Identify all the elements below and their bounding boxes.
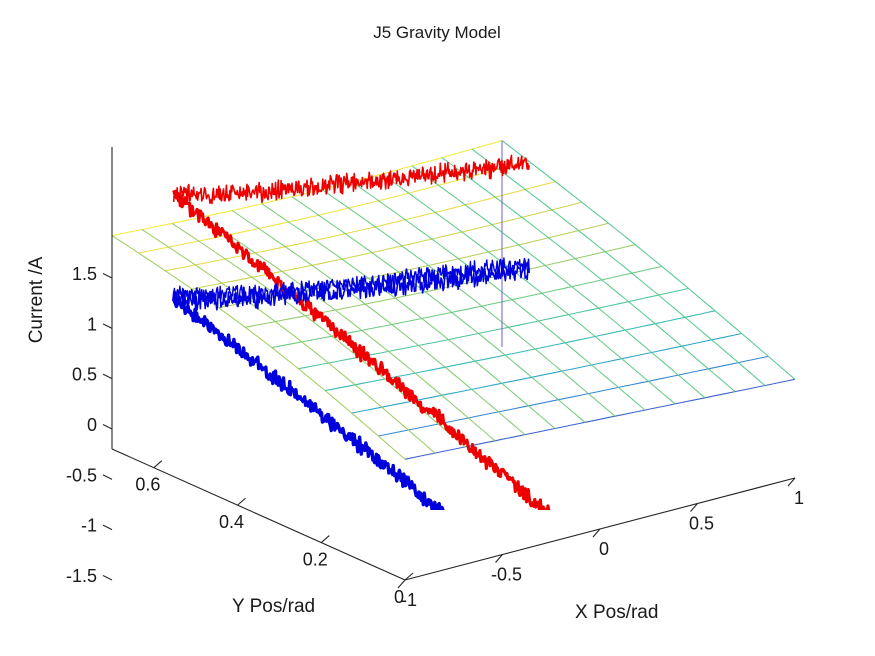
mesh-line-x — [382, 174, 675, 404]
trace-blue-descent — [174, 292, 546, 600]
z-tick-label: -0.5 — [66, 465, 97, 485]
z-tick-mark — [103, 274, 112, 279]
y-tick-label: 0.2 — [303, 550, 328, 570]
z-tick-label: 0 — [87, 415, 97, 435]
x-tick-label: 0 — [599, 539, 609, 559]
z-axis-label: Current /A — [26, 256, 47, 343]
z-tick-mark — [103, 475, 112, 480]
x-tick-label: -1 — [401, 590, 417, 610]
y-axis-line — [112, 449, 405, 580]
z-tick-label: -1.5 — [66, 566, 97, 586]
page-title: J5 Gravity Model — [373, 23, 501, 42]
trace-red-descent — [174, 190, 565, 527]
z-tick-label: 1.5 — [72, 264, 97, 284]
y-tick-label: 0.6 — [135, 475, 160, 495]
mesh-line-y — [325, 311, 715, 391]
z-tick-mark — [103, 576, 112, 581]
y-tick-mark — [154, 461, 162, 468]
plot-canvas[interactable]: J5 Gravity Model 1.510.50-0.5-1-1.5 0.60… — [0, 0, 875, 656]
y-tick-mark — [238, 498, 246, 505]
trace-red-sweep — [174, 155, 530, 203]
z-tick-mark — [103, 525, 112, 530]
z-tick-mark — [103, 374, 112, 379]
z-axis-ticks: 1.510.50-0.5-1-1.5 — [66, 264, 112, 586]
z-tick-mark — [103, 324, 112, 329]
y-axis-ticks: 0.60.40.20 — [135, 461, 413, 607]
mesh-line-x — [142, 230, 435, 454]
x-tick-label: -0.5 — [491, 565, 522, 585]
mesh-line-x — [472, 149, 765, 385]
z-tick-label: 1 — [87, 314, 97, 334]
x-axis-label: X Pos/rad — [575, 602, 658, 623]
y-tick-label: 0.4 — [219, 512, 244, 532]
figure-window: J5 Gravity Model 1.510.50-0.5-1-1.5 0.60… — [0, 0, 875, 656]
x-axis-ticks: -1-0.500.51 — [398, 478, 804, 610]
z-tick-label: -1 — [81, 516, 97, 536]
x-tick-label: 1 — [794, 488, 804, 508]
y-axis-label: Y Pos/rad — [232, 596, 315, 617]
x-tick-label: 0.5 — [689, 514, 714, 534]
z-tick-mark — [103, 425, 112, 430]
y-tick-mark — [321, 536, 329, 543]
z-tick-label: 0.5 — [72, 365, 97, 385]
mesh-line-x — [502, 141, 795, 380]
